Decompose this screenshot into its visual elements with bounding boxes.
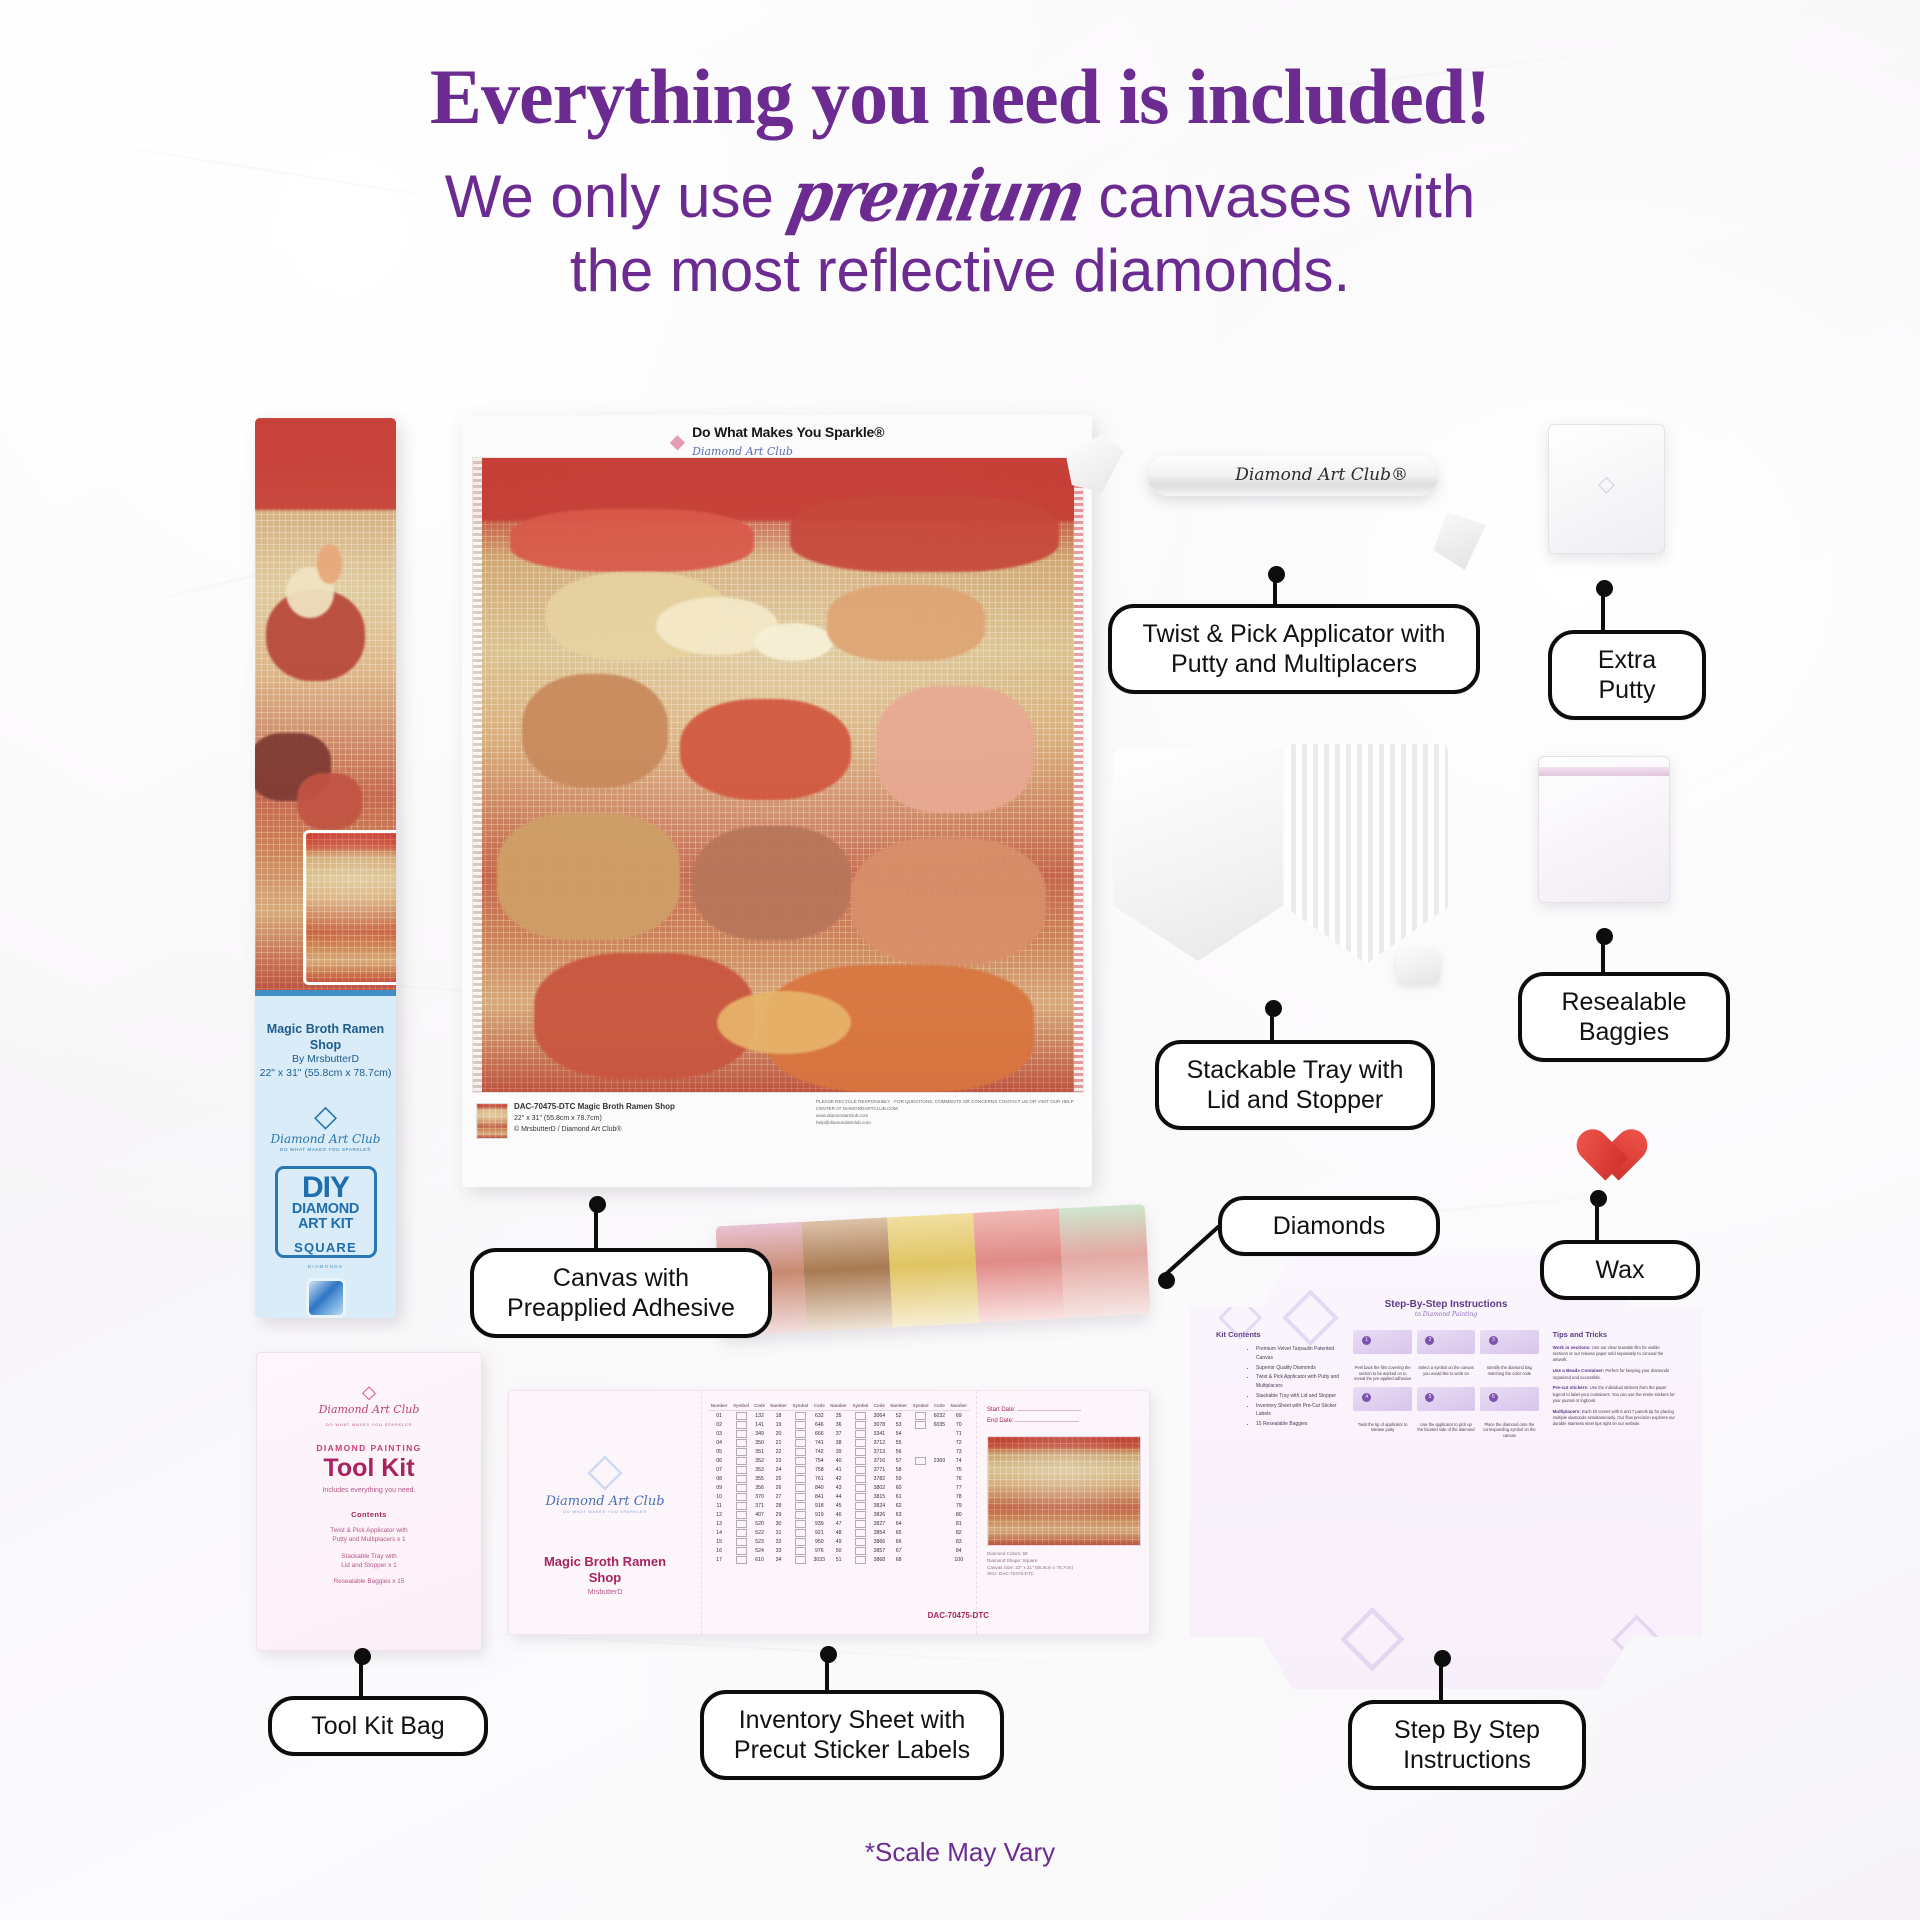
inventory-brand: Diamond Art Club [519,1494,691,1509]
table-row: 14522319214838546582 [708,1528,970,1537]
cell-symbol [850,1411,871,1421]
sub-pre: We only use [445,163,791,230]
cell-code: 666 [811,1429,827,1438]
tip-heading: Pre-cut stickers: [1553,1385,1589,1390]
cell-symbol [790,1429,811,1438]
cell-number: 66 [887,1537,909,1546]
cell-symbol [730,1501,751,1510]
col-code: Code [931,1403,947,1411]
kit-contents-item: Superior Quality Diamonds [1256,1364,1339,1373]
diamond-icon: ◇ [1598,471,1615,497]
inventory-symbol-table-wrap: Number Symbol Code Number Symbol Code Nu… [702,1391,976,1634]
table-row: 11371289184538246279 [708,1501,970,1510]
diy-shape-sub: DIAMONDS [255,1264,396,1269]
color-swatch [795,1538,806,1546]
cell-code: 3782 [871,1474,887,1483]
table-row: 05351227423937135673 [708,1447,970,1456]
step-text: Select a symbol on the canvas you would … [1417,1365,1475,1376]
cell-number: 61 [887,1492,909,1501]
color-swatch [736,1529,747,1537]
canvas-footer-text: DAC-70475-DTC Magic Broth Ramen Shop 22"… [514,1101,675,1136]
cell-code: 3033 [811,1555,827,1564]
cell-number: 41 [827,1465,849,1474]
package-brand: ◇ Diamond Art Club DO WHAT MAKES YOU SPA… [255,1103,396,1152]
cell-symbol [730,1537,751,1546]
start-date-label: Start Date: [987,1407,1016,1413]
cell-symbol [730,1447,751,1456]
sub-line2: the most reflective diamonds. [570,237,1350,304]
callout-resealable-baggies[interactable]: Resealable Baggies [1518,972,1730,1062]
instruction-step: 2Select a symbol on the canvas you would… [1417,1330,1475,1382]
color-swatch [736,1502,747,1510]
cell-code: 3854 [871,1528,887,1537]
cell-code: 520 [752,1519,768,1528]
cell-symbol [850,1492,871,1501]
table-row: 15523329504938666683 [708,1537,970,1546]
cell-number: 83 [948,1537,970,1546]
table-row: 04350217413837125572 [708,1438,970,1447]
cell-code [931,1528,947,1537]
cell-code [931,1465,947,1474]
product-package-box: Magic Broth Ramen Shop By MrsbutterD 22"… [255,418,396,1318]
cell-symbol [790,1420,811,1429]
cell-code [931,1519,947,1528]
cell-number: 16 [708,1546,730,1555]
cell-code: 353 [752,1465,768,1474]
diamond-icon: ◇ [1340,1583,1405,1681]
package-label: Magic Broth Ramen Shop By MrsbutterD 22"… [255,990,396,1318]
cell-code: 524 [752,1546,768,1555]
cell-symbol [910,1501,931,1510]
col-symbol: Symbol [910,1403,931,1411]
cell-code: 6035 [931,1420,947,1429]
cell-number: 74 [948,1456,970,1465]
cell-number: 25 [767,1474,789,1483]
cell-symbol [730,1555,751,1564]
tip-heading: Multiplacers: [1553,1409,1581,1414]
square-diamond-icon [309,1281,343,1315]
baggie-zip [1539,767,1669,776]
canvas-header: ◆ Do What Makes You Sparkle® Diamond Art… [472,427,1082,457]
tip-item: Multiplacers: Each kit comes with 6 and … [1553,1409,1676,1427]
callout-canvas[interactable]: Canvas with Preapplied Adhesive [470,1248,772,1338]
diamond-icon: ◆ [670,432,685,452]
cell-number: 23 [767,1456,789,1465]
cell-number: 11 [708,1501,730,1510]
cell-symbol [790,1555,811,1564]
diamond-icon: ◇ [255,1103,396,1130]
diy-shape: SQUARE [289,1240,362,1255]
cell-number: 35 [827,1411,849,1421]
canvas-sheet: ◆ Do What Makes You Sparkle® Diamond Art… [462,415,1092,1187]
color-swatch [855,1529,866,1537]
callout-dot [1590,1190,1607,1207]
tip-item: Work in sections: Use our clear tearable… [1553,1345,1676,1363]
color-swatch [795,1529,806,1537]
cell-symbol [730,1510,751,1519]
cell-number: 62 [887,1501,909,1510]
color-swatch [855,1520,866,1528]
cell-number: 02 [708,1420,730,1429]
color-swatch [736,1421,747,1429]
cell-number: 56 [887,1447,909,1456]
cell-symbol [790,1474,811,1483]
cell-symbol [850,1519,871,1528]
cell-symbol [730,1519,751,1528]
color-swatch [736,1475,747,1483]
color-swatch [736,1484,747,1492]
cell-number: 36 [827,1420,849,1429]
color-swatch [795,1484,806,1492]
cell-number: 72 [948,1438,970,1447]
extra-putty-baggie: ◇ [1548,424,1665,554]
cell-code: 919 [811,1510,827,1519]
step-text: Place the diamond onto the corresponding… [1480,1422,1538,1439]
cell-number: 82 [948,1528,970,1537]
cell-code: 3064 [871,1411,887,1421]
canvas-artwork [472,457,1084,1093]
inventory-title: Magic Broth Ramen Shop [519,1554,691,1585]
canvas-footer-thumbnail [476,1103,508,1139]
table-row: 011321863235306452603269 [708,1411,970,1421]
cell-symbol [730,1438,751,1447]
cell-code: 371 [752,1501,768,1510]
multiplacer-tip [1430,512,1486,570]
cell-code: 141 [752,1420,768,1429]
cell-code: 758 [811,1465,827,1474]
color-swatch [795,1502,806,1510]
canvas-footer-legal: PLEASE RECYCLE RESPONSIBLY · FOR QUESTIO… [816,1099,1076,1127]
callout-applicator[interactable]: Twist & Pick Applicator with Putty and M… [1108,604,1480,694]
cell-symbol [850,1456,871,1465]
inventory-tagline: DO WHAT MAKES YOU SPARKLE® [519,1509,691,1514]
cell-number: 67 [887,1546,909,1555]
cell-code [931,1474,947,1483]
kit-contents-item: 15 Resealable Baggies [1256,1420,1339,1429]
color-swatch [795,1475,806,1483]
cell-code [931,1429,947,1438]
cell-symbol [790,1501,811,1510]
color-swatch [915,1421,926,1429]
inventory-right-panel: Start Date: End Date: Diamond Colors: 58… [976,1391,1149,1634]
cell-number: 37 [827,1429,849,1438]
inventory-artist: MrsbutterD [519,1589,691,1596]
cell-number: 33 [767,1546,789,1555]
diamond-icon: ◇ [519,1449,691,1490]
cell-symbol [790,1411,811,1421]
diamond-icon: ◇ [1282,1269,1339,1355]
tips-title: Tips and Tricks [1553,1330,1676,1339]
table-row: 12407299194638266380 [708,1510,970,1519]
callout-dot [820,1646,837,1663]
canvas-header-title: Do What Makes You Sparkle® [692,424,884,440]
kit-contents-item: Stackable Tray with Lid and Stopper [1256,1392,1339,1401]
cell-symbol [790,1447,811,1456]
brand-tagline: DO WHAT MAKES YOU SPARKLE® [255,1147,396,1152]
cell-code: 350 [752,1438,768,1447]
kit-contents-item: Inventory Sheet with Pre-Cut Sticker Lab… [1256,1402,1339,1420]
color-swatch [855,1466,866,1474]
cell-number: 04 [708,1438,730,1447]
inventory-code: DAC-70475-DTC [928,1611,989,1620]
callout-extra-putty[interactable]: Extra Putty [1548,630,1706,720]
cell-number: 63 [887,1510,909,1519]
callout-dot [1434,1650,1451,1667]
cell-symbol [790,1465,811,1474]
cell-code: 3713 [871,1447,887,1456]
color-swatch [855,1502,866,1510]
cell-number: 47 [827,1519,849,1528]
cell-number: 29 [767,1510,789,1519]
cell-symbol [850,1465,871,1474]
instruction-step: 4Twist the tip of applicator to release … [1353,1387,1411,1439]
canvas-footer-code: DAC-70475-DTC Magic Broth Ramen Shop [514,1102,675,1111]
cell-symbol [910,1447,931,1456]
cell-code: 840 [811,1483,827,1492]
cell-number: 15 [708,1537,730,1546]
cell-code: 3815 [871,1492,887,1501]
cell-number: 07 [708,1465,730,1474]
canvas-footer-size: 22" x 31" (55.8cm x 78.7cm) [514,1115,602,1122]
cell-code: 3866 [871,1537,887,1546]
cell-symbol [910,1546,931,1555]
cell-symbol [730,1420,751,1429]
package-dimensions: 22" x 31" (55.8cm x 78.7cm) [255,1067,396,1081]
cell-symbol [910,1465,931,1474]
callout-tool-kit-bag[interactable]: Tool Kit Bag [268,1696,488,1756]
color-swatch [795,1466,806,1474]
cell-code: 742 [811,1447,827,1456]
cell-symbol [730,1465,751,1474]
cell-symbol [910,1537,931,1546]
cell-code: 754 [811,1456,827,1465]
cell-number: 14 [708,1528,730,1537]
col-code: Code [752,1403,768,1411]
cell-code: 950 [811,1537,827,1546]
cell-number: 30 [767,1519,789,1528]
cell-symbol [790,1438,811,1447]
callout-leader [1165,1224,1221,1275]
end-date-label: End Date: [987,1418,1014,1424]
cell-number: 84 [948,1546,970,1555]
cell-number: 13 [708,1519,730,1528]
cell-number: 32 [767,1537,789,1546]
cell-number: 55 [887,1438,909,1447]
toolkit-item: Stackable Tray with Lid and Stopper x 1 [269,1552,469,1571]
color-swatch [855,1430,866,1438]
cell-symbol [910,1510,931,1519]
inventory-dates: Start Date: End Date: [987,1405,1139,1428]
callout-wax[interactable]: Wax [1540,1240,1700,1300]
cell-symbol [850,1546,871,1555]
cell-code: 6032 [931,1411,947,1421]
cell-code: 3341 [871,1429,887,1438]
cell-code: 610 [752,1555,768,1564]
cell-code: 132 [752,1411,768,1421]
cell-number: 58 [887,1465,909,1474]
table-row: 063522375440371657236974 [708,1456,970,1465]
col-number: Number [767,1403,789,1411]
toolkit-subtitle: Includes everything you need. [269,1487,469,1494]
callout-dot [1596,928,1613,945]
step-number: 6 [1489,1393,1498,1402]
diy-line3: ART KIT [278,1217,374,1232]
cell-symbol [790,1483,811,1492]
cell-symbol [910,1528,931,1537]
cell-number: 69 [948,1411,970,1421]
cell-code: 370 [752,1492,768,1501]
cell-symbol [730,1483,751,1492]
callout-instructions[interactable]: Step By Step Instructions [1348,1700,1586,1790]
tip-heading: Use a Beads Container: [1553,1368,1605,1373]
tips-column: Tips and Tricks Work in sections: Use ou… [1553,1330,1676,1438]
cell-number: 01 [708,1411,730,1421]
diamond-icon: ◇ [269,1383,469,1401]
resealable-baggie [1538,756,1670,903]
cell-code [931,1447,947,1456]
step-number: 4 [1362,1393,1371,1402]
color-swatch [736,1412,747,1420]
cell-symbol [850,1438,871,1447]
cell-code: 2369 [931,1456,947,1465]
cell-number: 49 [827,1537,849,1546]
cell-number: 27 [767,1492,789,1501]
cell-number: 64 [887,1519,909,1528]
cell-code: 976 [811,1546,827,1555]
callout-dot [589,1196,606,1213]
cell-code: 355 [752,1474,768,1483]
diy-badge: DIY DIAMOND ART KIT SQUARE [275,1166,377,1259]
color-swatch [795,1412,806,1420]
cell-number: 75 [948,1465,970,1474]
sub-script-premium: premium [781,154,1090,240]
step-text: Use the applicator to pick up the facete… [1417,1422,1475,1433]
canvas-legal-line: PLEASE RECYCLE RESPONSIBLY · FOR QUESTIO… [816,1099,1076,1113]
cell-symbol [910,1519,931,1528]
cell-number: 81 [948,1519,970,1528]
cell-number: 46 [827,1510,849,1519]
diamond-icon: ◇ [1218,1279,1263,1347]
step-text: Peel back the film covering the section … [1353,1365,1411,1382]
cell-code: 523 [752,1537,768,1546]
cell-symbol [910,1438,931,1447]
applicator-pen: Diamond Art Club® [1148,456,1438,496]
cell-symbol [790,1510,811,1519]
cell-symbol [790,1519,811,1528]
callout-diamonds[interactable]: Diamonds [1218,1196,1440,1256]
cell-number: 28 [767,1501,789,1510]
diamond-bags-strip [715,1204,1150,1336]
inventory-symbol-table: Number Symbol Code Number Symbol Code Nu… [708,1403,970,1564]
canvas-web: www.diamondartclub.com [816,1113,1076,1120]
cell-number: 09 [708,1483,730,1492]
package-title: Magic Broth Ramen Shop [261,1022,390,1053]
table-row: 16524339765038576784 [708,1546,970,1555]
cell-number: 06 [708,1456,730,1465]
brand-name: Diamond Art Club [255,1132,396,1146]
cell-symbol [790,1546,811,1555]
cell-number: 79 [948,1501,970,1510]
inventory-caption: Diamond Colors: 58 Diamond Shape: Square… [987,1551,1139,1579]
cell-code: 3802 [871,1483,887,1492]
cell-code [931,1438,947,1447]
color-swatch [736,1547,747,1555]
table-row: 1761034303351386868100 [708,1555,970,1564]
color-swatch [795,1556,806,1564]
table-row: 03349206663733415471 [708,1429,970,1438]
wax-heart [1566,1108,1628,1166]
callout-stackable-tray[interactable]: Stackable Tray with Lid and Stopper [1155,1040,1435,1130]
cell-number: 19 [767,1420,789,1429]
color-swatch [915,1457,926,1465]
callout-dot [1158,1272,1175,1289]
cell-code [931,1555,947,1564]
cell-number: 51 [827,1555,849,1564]
cell-number: 20 [767,1429,789,1438]
color-swatch [736,1439,747,1447]
cell-code [931,1546,947,1555]
cell-number: 34 [767,1555,789,1564]
callout-inventory-sheet[interactable]: Inventory Sheet with Precut Sticker Labe… [700,1690,1004,1780]
color-swatch [736,1457,747,1465]
color-swatch [795,1439,806,1447]
cell-code: 3826 [871,1510,887,1519]
instruction-step: 3Identify the diamond bag matching the c… [1480,1330,1538,1382]
cell-symbol [730,1528,751,1537]
step-text: Identify the diamond bag matching the co… [1480,1365,1538,1376]
col-number: Number [948,1403,970,1411]
color-swatch [736,1511,747,1519]
cell-code: 921 [811,1528,827,1537]
cell-code: 356 [752,1483,768,1492]
color-swatch [736,1448,747,1456]
cell-symbol [790,1528,811,1537]
cell-code: 632 [811,1411,827,1421]
cell-number: 03 [708,1429,730,1438]
cell-symbol [910,1411,931,1421]
cell-number: 76 [948,1474,970,1483]
color-swatch [795,1430,806,1438]
color-swatch [795,1457,806,1465]
cell-code [931,1483,947,1492]
cell-number: 24 [767,1465,789,1474]
cell-code: 918 [811,1501,827,1510]
cell-code: 407 [752,1510,768,1519]
cell-number: 71 [948,1429,970,1438]
table-row: 09356268404338026077 [708,1483,970,1492]
cell-symbol [910,1555,931,1564]
color-swatch [855,1412,866,1420]
cell-number: 38 [827,1438,849,1447]
cell-symbol [790,1537,811,1546]
cell-number: 48 [827,1528,849,1537]
color-swatch [795,1511,806,1519]
cell-symbol [730,1546,751,1555]
cell-symbol [850,1528,871,1537]
color-swatch [855,1538,866,1546]
kit-contents-item: Twist & Pick Applicator with Putty and M… [1256,1373,1339,1391]
color-swatch [795,1547,806,1555]
cell-symbol [910,1492,931,1501]
cell-number: 22 [767,1447,789,1456]
cell-number: 21 [767,1438,789,1447]
cell-code: 939 [811,1519,827,1528]
color-swatch [855,1448,866,1456]
stackable-tray-base [1285,744,1448,964]
cell-code: 3771 [871,1465,887,1474]
toolkit-item: Twist & Pick Applicator with Putty and M… [269,1526,469,1545]
cell-symbol [910,1420,931,1429]
